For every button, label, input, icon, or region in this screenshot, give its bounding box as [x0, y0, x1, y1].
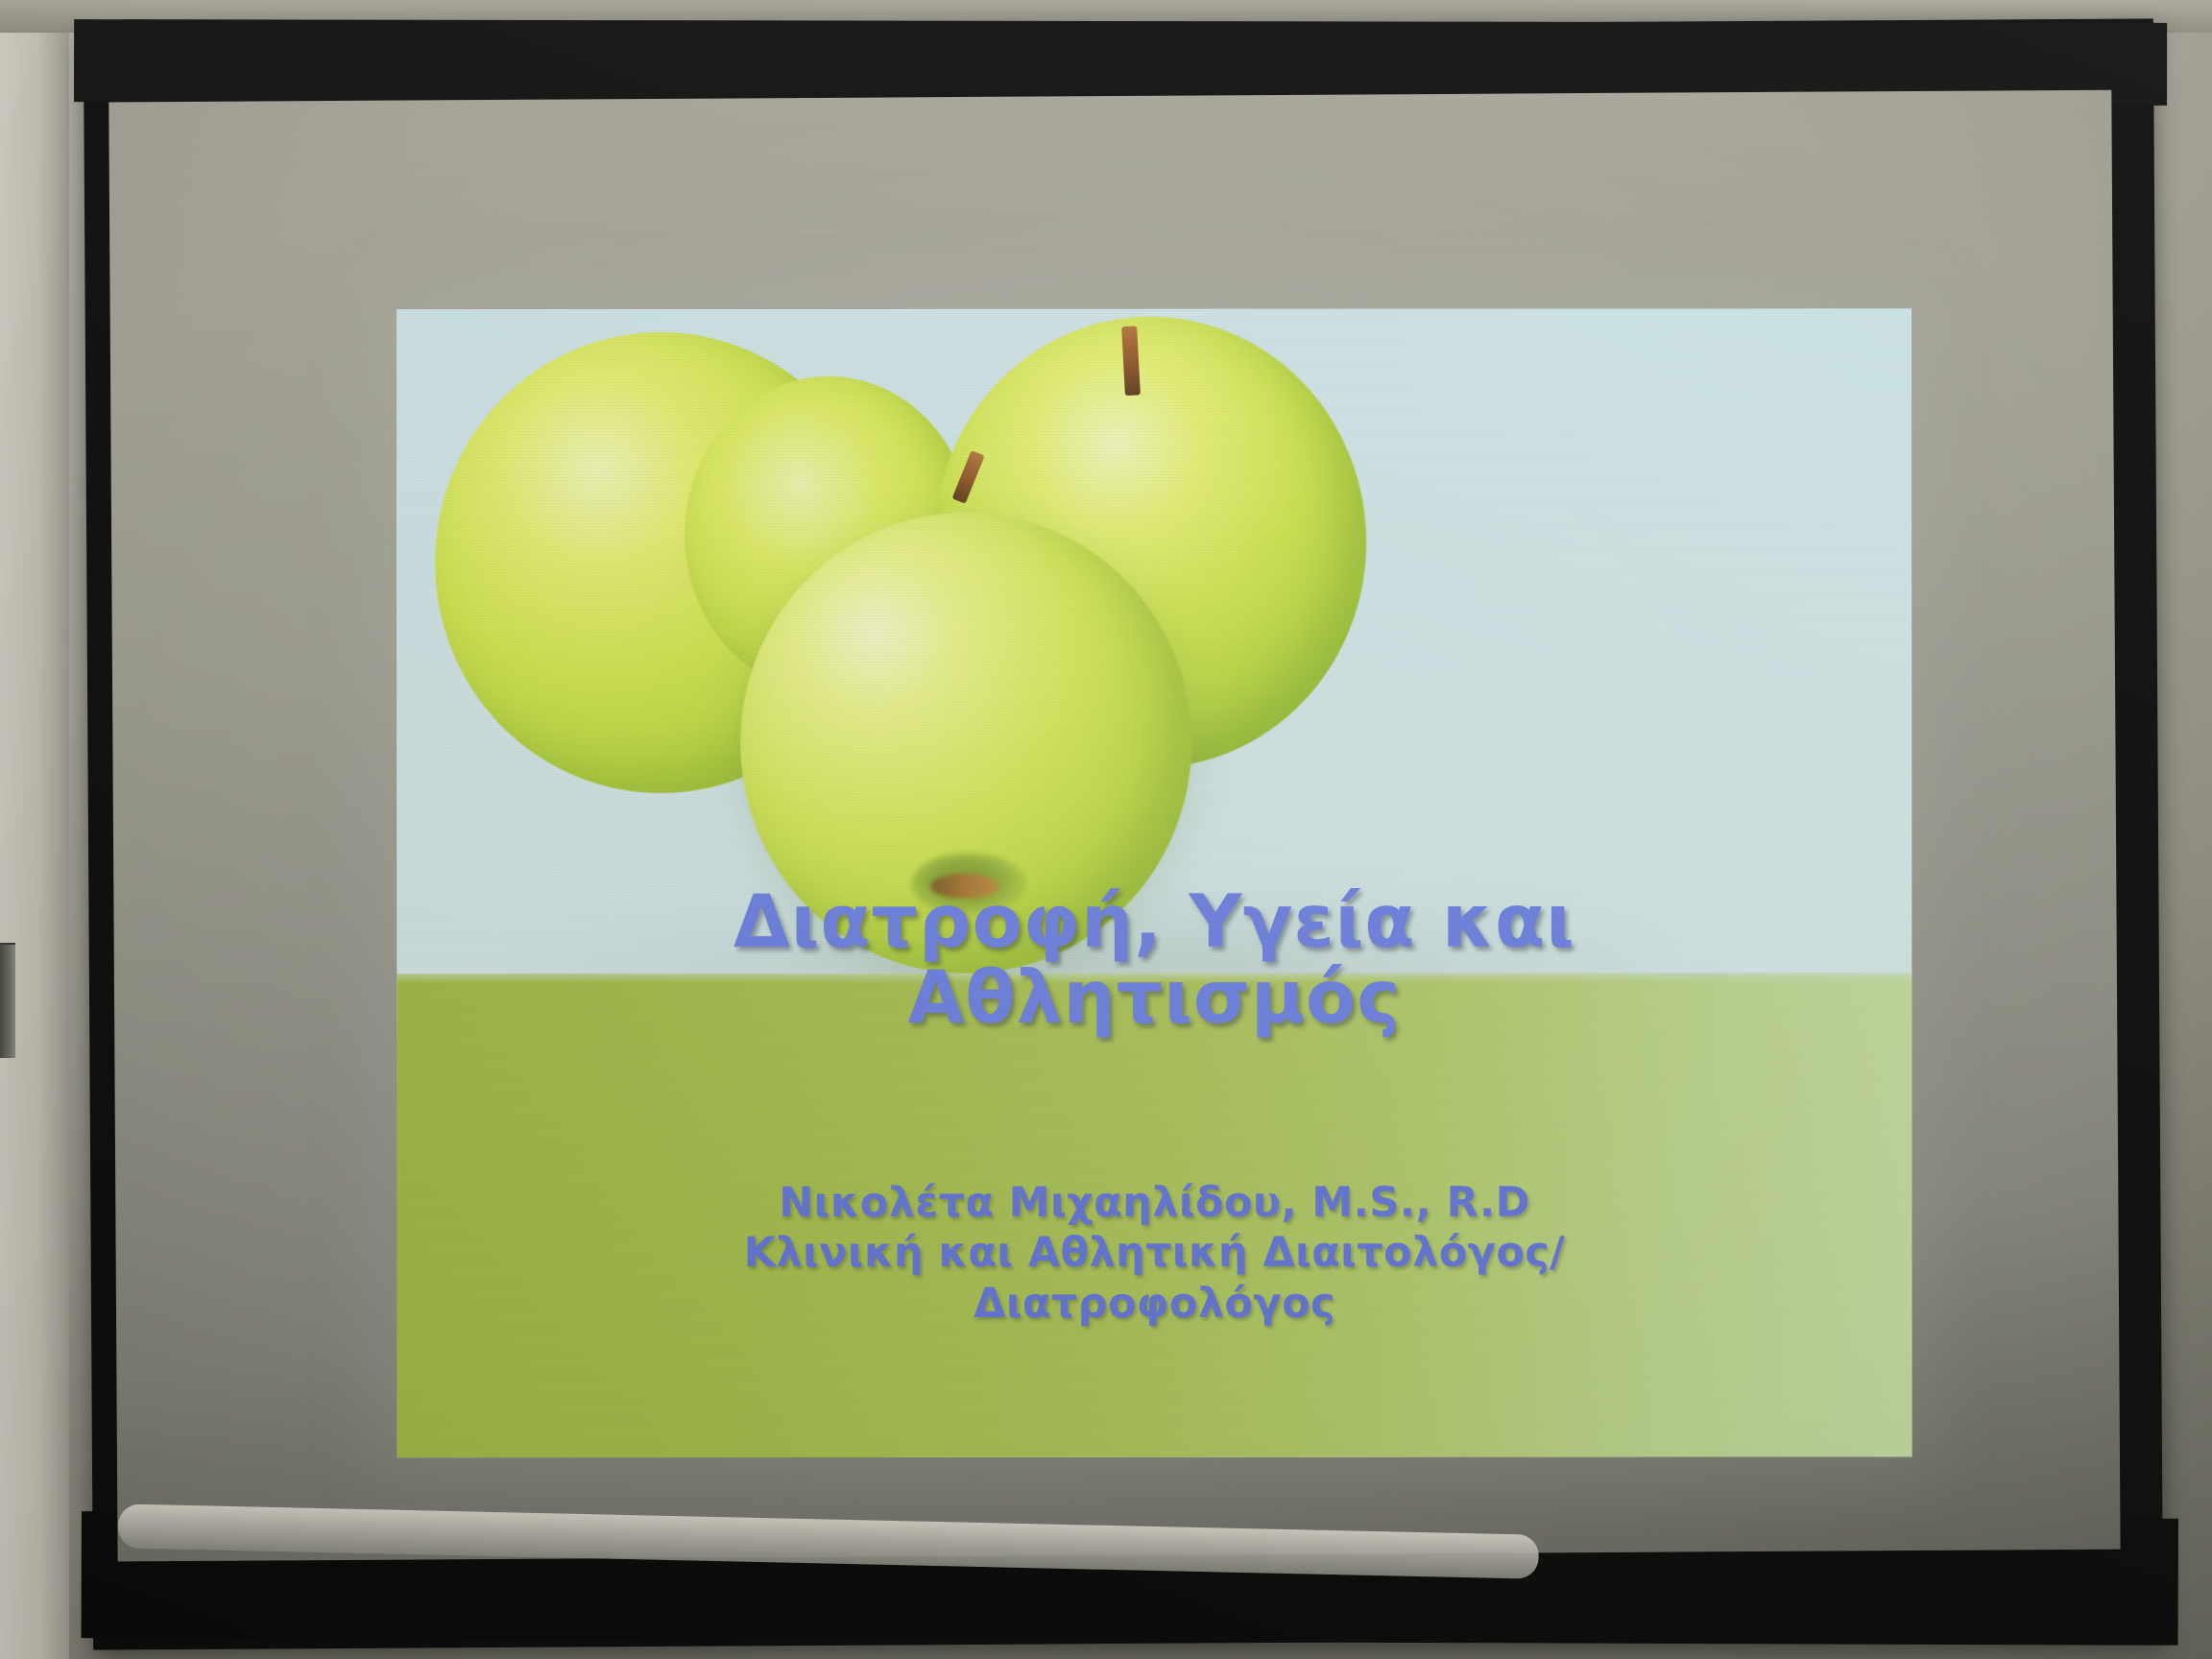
projection-screen-surface: Διατροφή, Υγεία και Αθλητισμός Νικολέτα … — [108, 90, 2120, 1562]
wall-fixture — [0, 943, 15, 1058]
slide-title-line-2: Αθλητισμός — [397, 958, 1911, 1035]
slide-subtitle-line-3: Διατροφολόγος — [397, 1278, 1912, 1329]
projection-screen-frame: Διατροφή, Υγεία και Αθλητισμός Νικολέτα … — [84, 18, 2163, 1649]
screenshot-root: Διατροφή, Υγεία και Αθλητισμός Νικολέτα … — [0, 0, 2212, 1659]
slide-subtitle-line-1: Νικολέτα Μιχαηλίδου, M.S., R.D — [397, 1177, 1911, 1228]
slide-subtitle: Νικολέτα Μιχαηλίδου, M.S., R.D Κλινική κ… — [397, 1177, 1911, 1329]
wall-left-panel — [0, 0, 69, 1659]
slide-subtitle-line-2: Κλινική και Αθλητική Διαιτολόγος/ — [397, 1228, 1911, 1279]
slide-title: Διατροφή, Υγεία και Αθλητισμός — [397, 882, 1911, 1035]
slide-title-line-1: Διατροφή, Υγεία και — [397, 882, 1911, 959]
projected-slide: Διατροφή, Υγεία και Αθλητισμός Νικολέτα … — [397, 308, 1912, 1457]
